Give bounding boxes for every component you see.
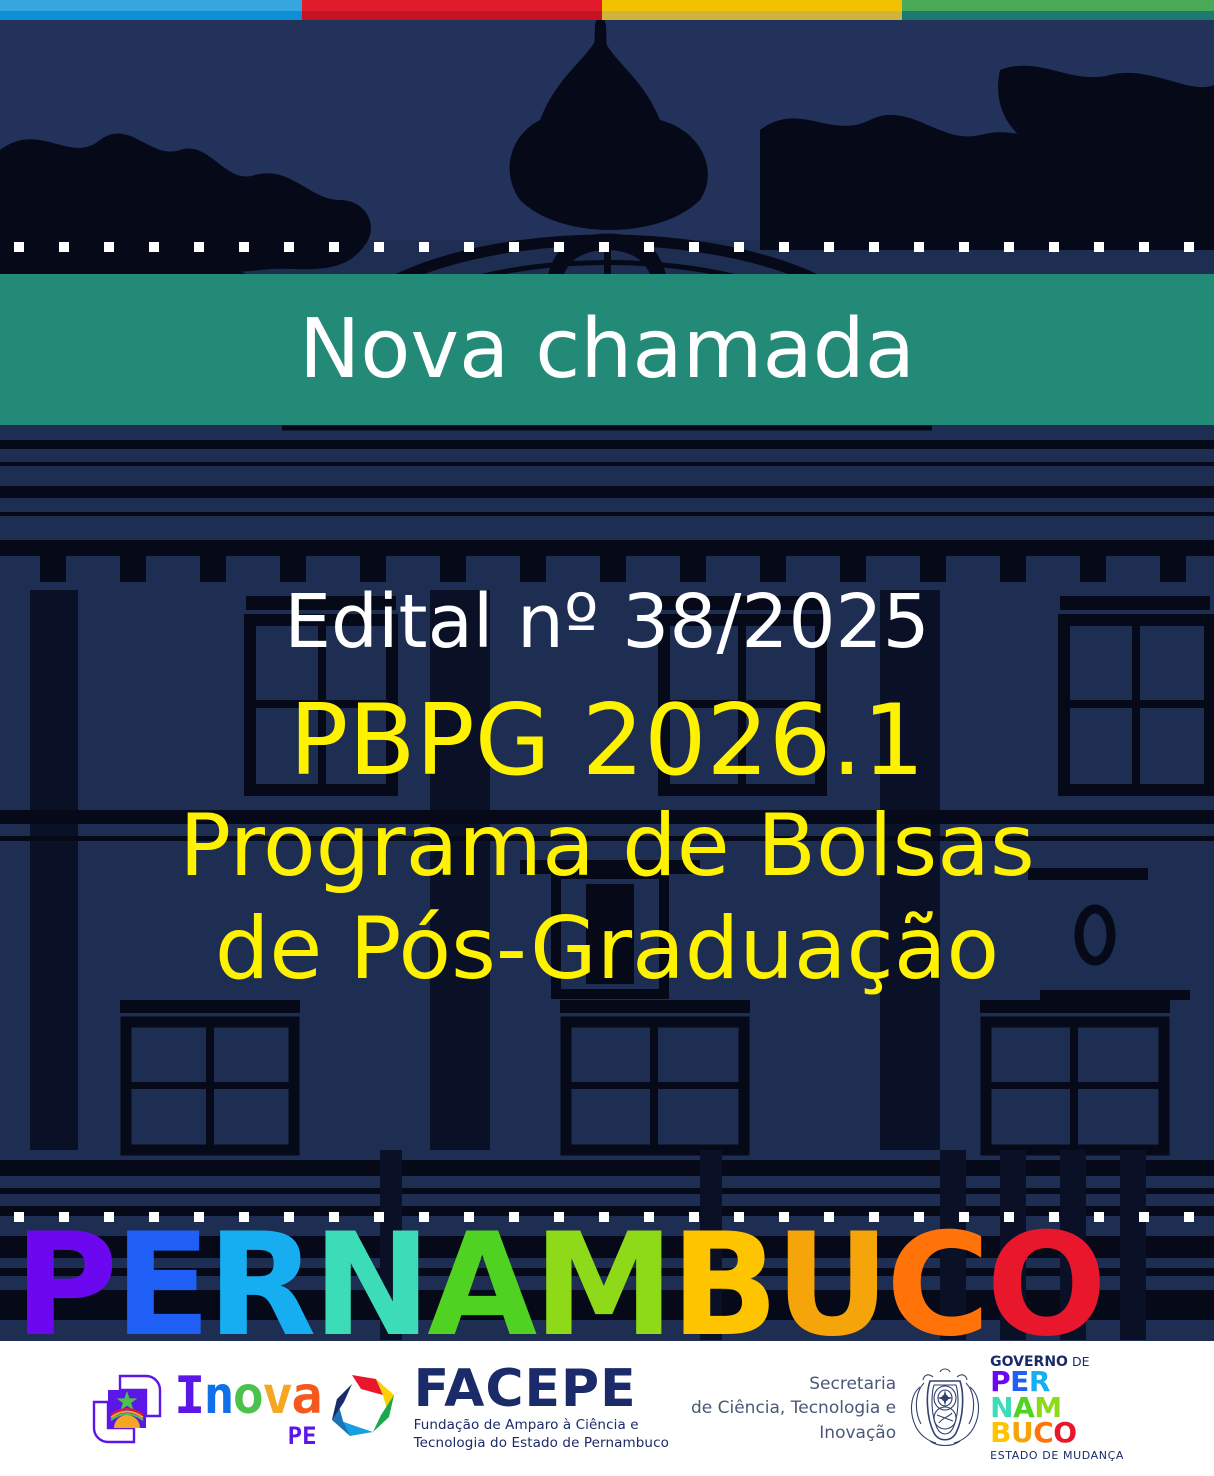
wordmark-letter-A: A xyxy=(427,1228,533,1341)
divider-dot xyxy=(1049,242,1059,252)
divider-dot xyxy=(419,242,429,252)
announcement-banner: Nova chamada xyxy=(0,274,1214,425)
divider-dot xyxy=(554,242,564,252)
divider-dot xyxy=(59,1212,69,1222)
divider-dot xyxy=(734,242,744,252)
divider-dot xyxy=(599,1212,609,1222)
governo-pernambuco-logo[interactable]: GOVERNO DE PERNAMBUCO ESTADO DE MUDANÇA xyxy=(906,1341,1124,1476)
divider-dot xyxy=(1139,242,1149,252)
inova-wordmark: Inova PE xyxy=(174,1370,321,1448)
dotted-divider-top xyxy=(0,240,1214,254)
divider-dot xyxy=(509,1212,519,1222)
divider-dot xyxy=(959,242,969,252)
wordmark-letter-U: U xyxy=(775,1228,886,1341)
de-word: DE xyxy=(1068,1354,1090,1369)
divider-dot xyxy=(104,242,114,252)
color-bar-segment-red xyxy=(302,0,602,20)
governo-row-2: BUCO xyxy=(990,1420,1076,1446)
segment-bottom xyxy=(0,11,302,20)
divider-dot xyxy=(734,1212,744,1222)
wordmark-letter-R: R xyxy=(207,1228,312,1341)
divider-dot xyxy=(1139,1212,1149,1222)
governo-letter-B: B xyxy=(990,1416,1011,1449)
divider-dot xyxy=(824,242,834,252)
governo-letter-U: U xyxy=(1011,1416,1033,1449)
color-bar-segment-blue xyxy=(0,0,302,20)
divider-dot xyxy=(689,242,699,252)
brand-color-bar xyxy=(0,0,1214,20)
divider-dot xyxy=(239,1212,249,1222)
divider-dot xyxy=(599,242,609,252)
segment-top xyxy=(602,0,902,11)
facepe-hexagon-icon xyxy=(321,1367,405,1451)
color-bar-segment-yellow xyxy=(602,0,902,20)
governo-letter-O: O xyxy=(1053,1416,1076,1449)
divider-dot xyxy=(1004,242,1014,252)
inova-letter-I: I xyxy=(174,1366,203,1426)
divider-dot xyxy=(824,1212,834,1222)
wordmark-letter-B: B xyxy=(671,1228,775,1341)
facepe-name: FACEPE xyxy=(414,1365,669,1414)
pernambuco-wordmark: PERNAMBUCO xyxy=(0,1228,1214,1341)
footer-logo-strip: Inova PE FACEPE Fundação d xyxy=(0,1341,1214,1476)
divider-dot xyxy=(284,1212,294,1222)
divider-dot xyxy=(239,242,249,252)
estado-de-mudanca-label: ESTADO DE MUDANÇA xyxy=(990,1449,1124,1462)
facepe-logo[interactable]: FACEPE Fundação de Amparo à Ciência e Te… xyxy=(321,1341,669,1476)
divider-dot xyxy=(644,1212,654,1222)
secretaria-line3: Inovação xyxy=(691,1421,896,1446)
pernambuco-flag-emblem-icon xyxy=(90,1370,164,1448)
segment-bottom xyxy=(902,11,1214,20)
divider-dot xyxy=(284,242,294,252)
divider-dot xyxy=(509,242,519,252)
facepe-subtitle-line2: Tecnologia do Estado de Pernambuco xyxy=(414,1435,669,1452)
governo-letter-C: C xyxy=(1033,1416,1053,1449)
divider-dot xyxy=(644,242,654,252)
wordmark-letter-E: E xyxy=(114,1228,207,1341)
wordmark-letter-O: O xyxy=(986,1228,1103,1341)
governo-text: GOVERNO DE PERNAMBUCO ESTADO DE MUDANÇA xyxy=(990,1355,1124,1462)
banner-title: Nova chamada xyxy=(299,309,915,391)
program-name-line1: Programa de Bolsas xyxy=(179,798,1035,894)
divider-dot xyxy=(149,242,159,252)
segment-top xyxy=(302,0,602,11)
inova-letter-v: v xyxy=(262,1366,291,1426)
wordmark-letter-C: C xyxy=(886,1228,986,1341)
facepe-subtitle: Fundação de Amparo à Ciência e Tecnologi… xyxy=(414,1417,669,1452)
divider-dot xyxy=(914,242,924,252)
segment-top xyxy=(902,0,1214,11)
facepe-subtitle-line1: Fundação de Amparo à Ciência e xyxy=(414,1417,669,1434)
inova-pe-suffix: PE xyxy=(288,1424,317,1448)
secretaria-line1: Secretaria xyxy=(691,1372,896,1397)
divider-dot xyxy=(779,1212,789,1222)
divider-dot xyxy=(1184,1212,1194,1222)
secretaria-line2: de Ciência, Tecnologia e xyxy=(691,1396,896,1421)
secretaria-text: Secretaria de Ciência, Tecnologia e Inov… xyxy=(691,1372,896,1446)
color-bar-segment-green xyxy=(902,0,1214,20)
divider-dot xyxy=(464,242,474,252)
inova-letters: Inova xyxy=(174,1370,321,1422)
divider-dot xyxy=(869,242,879,252)
divider-dot xyxy=(104,1212,114,1222)
inova-letter-o: o xyxy=(233,1366,262,1426)
divider-dot xyxy=(1184,242,1194,252)
divider-dot xyxy=(419,1212,429,1222)
wordmark-letter-N: N xyxy=(312,1228,427,1341)
poster-canvas: Nova chamada Edital nº 38/2025 PBPG 2026… xyxy=(0,0,1214,1476)
segment-bottom xyxy=(302,11,602,20)
divider-dot xyxy=(914,1212,924,1222)
divider-dot xyxy=(194,242,204,252)
program-name-line2: de Pós-Graduação xyxy=(215,901,999,997)
divider-dot xyxy=(869,1212,879,1222)
segment-top xyxy=(0,0,302,11)
wordmark-letter-M: M xyxy=(533,1228,670,1341)
divider-dot xyxy=(329,1212,339,1222)
divider-dot xyxy=(1094,242,1104,252)
program-code: PBPG 2026.1 xyxy=(289,692,924,792)
edital-number: Edital nº 38/2025 xyxy=(284,585,929,660)
divider-dot xyxy=(959,1212,969,1222)
facepe-text: FACEPE Fundação de Amparo à Ciência e Te… xyxy=(414,1365,669,1452)
inova-letter-n: n xyxy=(203,1366,232,1426)
inova-letter-a: a xyxy=(291,1366,320,1426)
divider-dot xyxy=(374,242,384,252)
coat-of-arms-icon xyxy=(906,1365,984,1453)
divider-dot xyxy=(329,242,339,252)
segment-bottom xyxy=(602,11,902,20)
divider-dot xyxy=(14,242,24,252)
divider-dot xyxy=(689,1212,699,1222)
wordmark-letter-P: P xyxy=(14,1228,114,1341)
divider-dot xyxy=(149,1212,159,1222)
divider-dot xyxy=(554,1212,564,1222)
divider-dot xyxy=(14,1212,24,1222)
divider-dot xyxy=(194,1212,204,1222)
governo-pernambuco-rows: PERNAMBUCO xyxy=(990,1369,1076,1446)
divider-dot xyxy=(374,1212,384,1222)
divider-dot xyxy=(59,242,69,252)
divider-dot xyxy=(1004,1212,1014,1222)
dotted-divider-bottom xyxy=(0,1210,1214,1224)
divider-dot xyxy=(779,242,789,252)
divider-dot xyxy=(464,1212,474,1222)
secretaria-block: Secretaria de Ciência, Tecnologia e Inov… xyxy=(669,1341,904,1476)
main-content: Edital nº 38/2025 PBPG 2026.1 Programa d… xyxy=(0,430,1214,1190)
inova-pe-logo[interactable]: Inova PE xyxy=(90,1341,321,1476)
divider-dot xyxy=(1094,1212,1104,1222)
divider-dot xyxy=(1049,1212,1059,1222)
